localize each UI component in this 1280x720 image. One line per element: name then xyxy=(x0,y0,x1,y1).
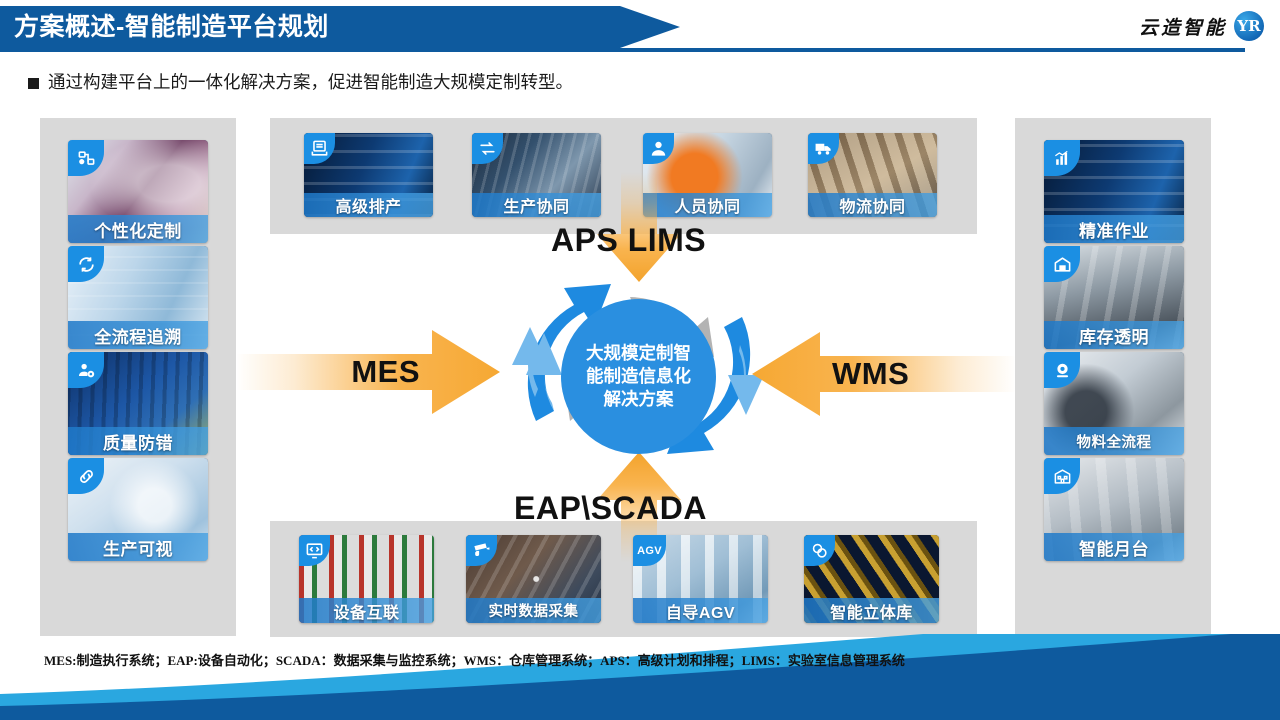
card-label: 物流协同 xyxy=(808,193,937,217)
card-label: 生产协同 xyxy=(472,193,601,217)
brand-logo: 云造智能 YR xyxy=(1139,8,1264,44)
flow-label-wms: WMS xyxy=(832,356,909,392)
card-label: 个性化定制 xyxy=(68,215,208,243)
card-label: 智能立体库 xyxy=(804,598,939,623)
card-label: 人员协同 xyxy=(643,193,772,217)
center-line-2: 能制造信息化 xyxy=(586,365,691,388)
slide-title-banner: 方案概述-智能制造平台规划 xyxy=(0,6,680,48)
card-production-collaboration[interactable]: 生产协同 xyxy=(472,133,601,217)
card-smart-dock[interactable]: 智能月台 xyxy=(1044,458,1184,561)
card-equipment-interconnection[interactable]: 设备互联 xyxy=(299,535,434,623)
center-line-1: 大规模定制智 xyxy=(586,342,691,365)
card-self-guided-agv[interactable]: AGV 自导AGV xyxy=(633,535,768,623)
flow-label-aps-lims: APS LIMS xyxy=(551,222,706,259)
bullet-text: 通过构建平台上的一体化解决方案，促进智能制造大规模定制转型。 xyxy=(48,72,573,93)
title-underline xyxy=(0,48,1245,52)
card-precise-operation[interactable]: 精准作业 xyxy=(1044,140,1184,243)
center-core-circle: 大规模定制智 能制造信息化 解决方案 xyxy=(561,299,716,454)
slide-root: 方案概述-智能制造平台规划 云造智能 YR 通过构建平台上的一体化解决方案，促进… xyxy=(0,0,1280,720)
brand-mark-icon: YR xyxy=(1234,11,1264,41)
flow-label-mes: MES xyxy=(351,354,420,390)
brand-name: 云造智能 xyxy=(1139,13,1227,40)
bullet-square-icon xyxy=(28,78,39,89)
flow-label-eap-scada: EAP\SCADA xyxy=(514,490,707,527)
card-personalized-customization[interactable]: 个性化定制 xyxy=(68,140,208,243)
card-personnel-collaboration[interactable]: 人员协同 xyxy=(643,133,772,217)
flow-arrow-mes: MES xyxy=(236,330,500,414)
card-material-full-process[interactable]: 物料全流程 xyxy=(1044,352,1184,455)
card-advanced-planning[interactable]: 高级排产 xyxy=(304,133,433,217)
card-label: 全流程追溯 xyxy=(68,321,208,349)
agv-label: AGV xyxy=(637,545,662,557)
card-label: 设备互联 xyxy=(299,598,434,623)
card-label: 实时数据采集 xyxy=(466,598,601,623)
card-logistics-collaboration[interactable]: 物流协同 xyxy=(808,133,937,217)
card-full-process-traceability[interactable]: 全流程追溯 xyxy=(68,246,208,349)
card-inventory-transparency[interactable]: 库存透明 xyxy=(1044,246,1184,349)
card-label: 自导AGV xyxy=(633,598,768,623)
card-label: 库存透明 xyxy=(1044,321,1184,349)
footer-wave-decoration xyxy=(0,634,1280,720)
card-label: 物料全流程 xyxy=(1044,427,1184,455)
card-label: 精准作业 xyxy=(1044,215,1184,243)
card-label: 智能月台 xyxy=(1044,533,1184,561)
card-label: 质量防错 xyxy=(68,427,208,455)
card-label: 高级排产 xyxy=(304,193,433,217)
legend-text: MES:制造执行系统；EAP:设备自动化；SCADA：数据采集与监控系统；WMS… xyxy=(44,650,905,669)
card-realtime-data-collection[interactable]: 实时数据采集 xyxy=(466,535,601,623)
card-production-visibility[interactable]: 生产可视 xyxy=(68,458,208,561)
page-title: 方案概述-智能制造平台规划 xyxy=(0,15,329,40)
center-cycle-diagram: 大规模定制智 能制造信息化 解决方案 xyxy=(496,263,782,475)
bullet-line: 通过构建平台上的一体化解决方案，促进智能制造大规模定制转型。 xyxy=(28,72,573,93)
center-line-3: 解决方案 xyxy=(604,388,674,411)
card-smart-stereo-warehouse[interactable]: 智能立体库 xyxy=(804,535,939,623)
card-quality-error-proofing[interactable]: 质量防错 xyxy=(68,352,208,455)
card-label: 生产可视 xyxy=(68,533,208,561)
